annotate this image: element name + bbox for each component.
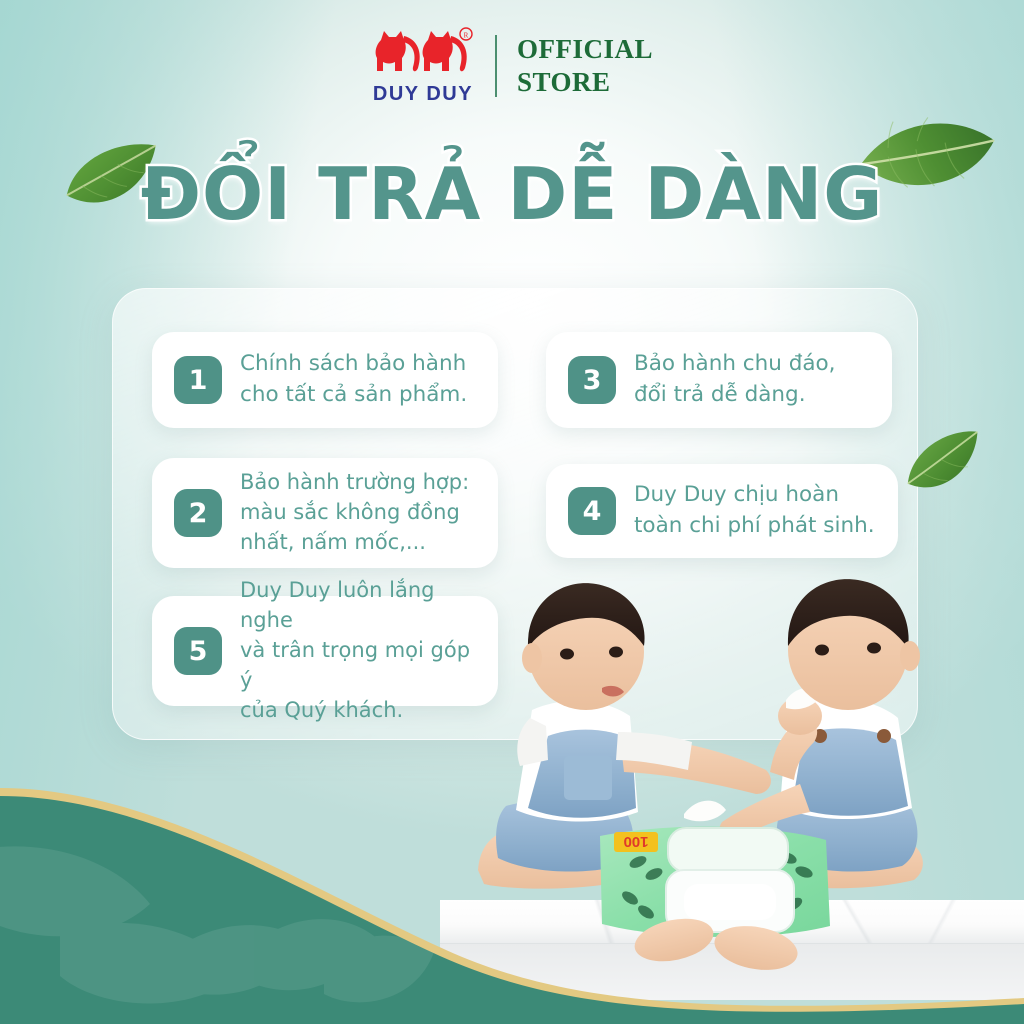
policy-number-badge: 5 — [174, 627, 222, 675]
official-line-2: STORE — [517, 66, 653, 99]
policy-number-badge: 3 — [568, 356, 616, 404]
official-line-1: OFFICIAL — [517, 33, 653, 66]
policy-card[interactable]: 1 Chính sách bảo hành cho tất cả sản phẩ… — [152, 332, 498, 428]
policy-card[interactable]: 5 Duy Duy luôn lắng nghe và trân trọng m… — [152, 596, 498, 706]
policy-card[interactable]: 3 Bảo hành chu đáo, đổi trả dễ dàng. — [546, 332, 892, 428]
policy-number-badge: 4 — [568, 487, 616, 535]
page-title: ĐỔI TRẢ DỄ DÀNG — [0, 152, 1024, 236]
brand-header: R DUY DUY OFFICIAL STORE — [0, 26, 1024, 106]
double-cat-logo-icon: R — [371, 26, 475, 82]
policy-number-badge: 1 — [174, 356, 222, 404]
policy-card-text: Chính sách bảo hành cho tất cả sản phẩm. — [240, 349, 467, 410]
two-toddlers-photo: 100 — [470, 540, 940, 970]
logo-wordmark: DUY DUY — [373, 83, 473, 106]
wipes-pack-label: 100 — [623, 833, 648, 850]
policy-card-text: Duy Duy chịu hoàn toàn chi phí phát sinh… — [634, 480, 875, 541]
policy-card-text: Bảo hành chu đáo, đổi trả dễ dàng. — [634, 349, 836, 410]
policy-card[interactable]: 2 Bảo hành trường hợp: màu sắc không đồn… — [152, 458, 498, 568]
svg-text:R: R — [464, 32, 469, 40]
promo-banner: R DUY DUY OFFICIAL STORE ĐỔI TRẢ DỄ DÀNG — [0, 0, 1024, 1024]
official-store-label: OFFICIAL STORE — [517, 33, 653, 99]
duy-duy-logo: R DUY DUY — [371, 26, 475, 106]
header-divider — [495, 35, 497, 97]
policy-number-badge: 2 — [174, 489, 222, 537]
policy-card-text: Bảo hành trường hợp: màu sắc không đồng … — [240, 468, 469, 557]
